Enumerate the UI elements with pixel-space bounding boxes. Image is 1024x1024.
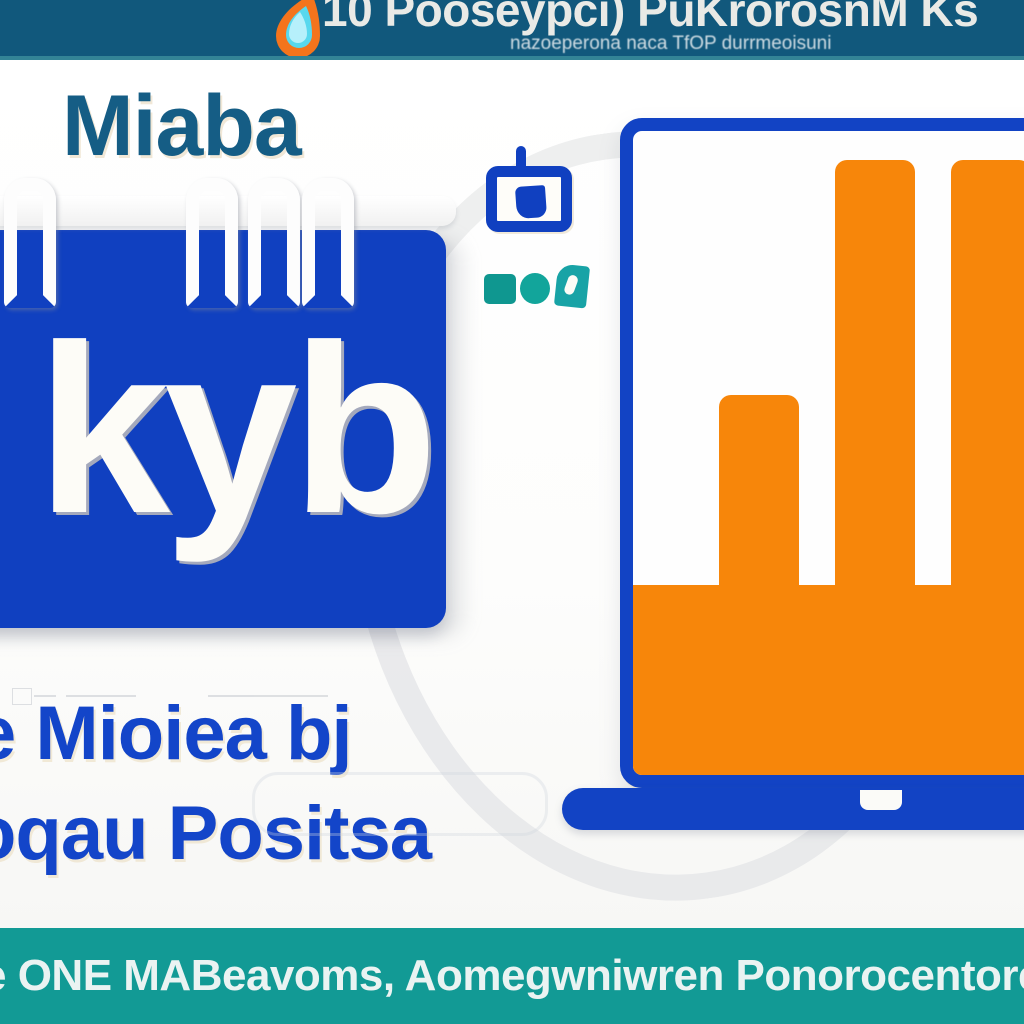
- header-title: 10 Pooseypci) PuKrorosnM Ks: [322, 0, 1022, 32]
- spiral-card[interactable]: kyb: [0, 230, 446, 628]
- header-band: 10 Pooseypci) PuKrorosnM Ks nazoeperona …: [0, 0, 1024, 56]
- laptop-base: [562, 788, 1024, 830]
- binding-bar: [0, 196, 456, 226]
- card-label: kyb: [0, 230, 446, 628]
- header-text-wrap: 10 Pooseypci) PuKrorosnM Ks nazoeperona …: [322, 0, 1022, 55]
- bar-3: [951, 160, 1024, 775]
- header-inner: 10 Pooseypci) PuKrorosnM Ks nazoeperona …: [0, 0, 1024, 56]
- footer-text: e ONE MABeavoms, Aomegwniwren Ponorocent…: [0, 951, 1024, 1001]
- banner-graphic: 10 Pooseypci) PuKrorosnM Ks nazoeperona …: [0, 0, 1024, 1024]
- laptop-base-notch: [860, 790, 902, 810]
- circle-chip-icon[interactable]: [520, 273, 550, 304]
- bar-chart: [633, 585, 1024, 775]
- map-pin-shape-icon: [515, 185, 547, 219]
- bar-1: [719, 395, 799, 775]
- glasses-glint-decoration: [252, 772, 548, 836]
- tag-chip-icon[interactable]: [554, 263, 590, 308]
- page-title: Miaba: [62, 78, 301, 174]
- bar-2: [835, 160, 915, 775]
- square-chip-icon[interactable]: [484, 274, 516, 304]
- header-subtitle: nazoeperona naca TfOP durrmeoisuni: [510, 33, 1022, 55]
- laptop-screen: [620, 118, 1024, 788]
- body-line-1: e Mioiea bj: [0, 692, 352, 776]
- footer-band: e ONE MABeavoms, Aomegwniwren Ponorocent…: [0, 928, 1024, 1024]
